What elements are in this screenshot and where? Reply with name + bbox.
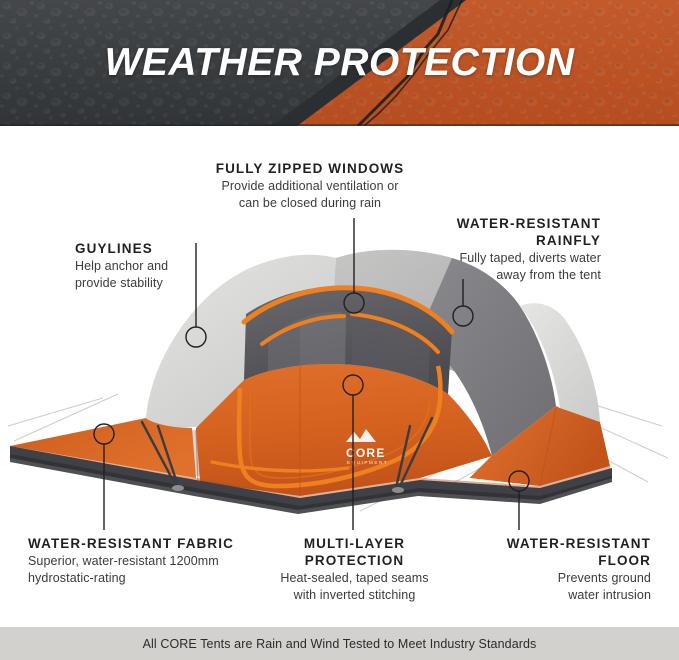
pole-foot-left — [172, 485, 184, 491]
tent-illustration: CORE EQUIPMENT — [0, 126, 679, 620]
footer-bar: All CORE Tents are Rain and Wind Tested … — [0, 627, 679, 660]
page-title: WEATHER PROTECTION — [0, 0, 679, 126]
core-brand-text: CORE — [346, 446, 385, 460]
pole-foot-right — [392, 487, 404, 493]
weather-protection-infographic: WEATHER PROTECTION FULLY ZIPPED WINDOWS … — [0, 0, 679, 660]
footer-text: All CORE Tents are Rain and Wind Tested … — [143, 637, 537, 651]
header-banner: WEATHER PROTECTION — [0, 0, 679, 126]
